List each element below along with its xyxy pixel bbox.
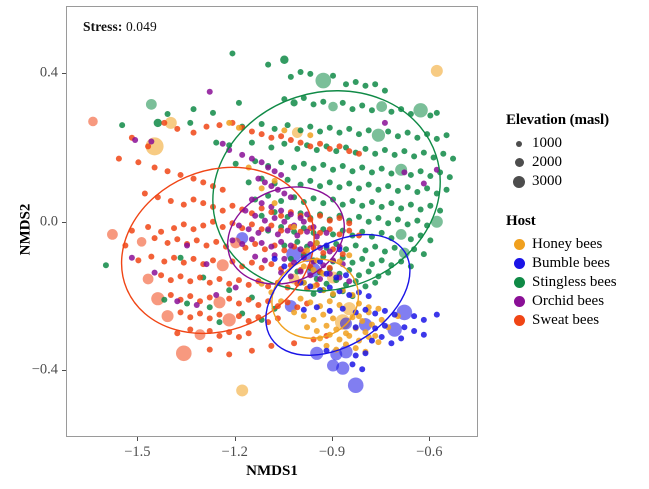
legend-area: Elevation (masl) 100020003000 Host Honey…: [506, 112, 649, 330]
y-tick-label: 0.4: [40, 64, 58, 81]
elevation-size-dot-icon: [506, 158, 532, 167]
x-tick-mark: [137, 437, 138, 441]
legend-elevation: Elevation (masl) 100020003000: [506, 112, 649, 191]
elevation-size-dot-icon: [506, 141, 532, 147]
stress-value: 0.049: [126, 19, 157, 34]
x-tick-mark: [332, 437, 333, 441]
legend-elevation-label: 1000: [532, 134, 562, 153]
y-tick-label: 0.0: [40, 213, 58, 230]
legend-host-rows: Honey beesBumble beesStingless beesOrchi…: [506, 235, 649, 330]
legend-host-label: Honey bees: [532, 235, 602, 254]
x-tick-label: −0.6: [416, 444, 442, 461]
y-tick-label: −0.4: [32, 362, 58, 379]
legend-host-item[interactable]: Honey bees: [506, 235, 649, 254]
host-color-dot-icon: [506, 277, 532, 288]
plot-panel: Stress: 0.049: [66, 6, 478, 437]
legend-host: Host Honey beesBumble beesStingless bees…: [506, 213, 649, 330]
legend-elevation-label: 2000: [532, 153, 562, 172]
stress-annotation: Stress: 0.049: [83, 19, 157, 35]
y-axis-title: NMDS2: [18, 170, 35, 290]
legend-elevation-label: 3000: [532, 172, 562, 191]
legend-elevation-rows: 100020003000: [506, 134, 649, 191]
legend-host-label: Orchid bees: [532, 292, 604, 311]
legend-host-item[interactable]: Stingless bees: [506, 273, 649, 292]
y-tick-mark: [62, 370, 66, 371]
legend-host-item[interactable]: Bumble bees: [506, 254, 649, 273]
x-tick-mark: [235, 437, 236, 441]
legend-host-item[interactable]: Orchid bees: [506, 292, 649, 311]
x-tick-mark: [429, 437, 430, 441]
y-tick-mark: [62, 222, 66, 223]
elevation-size-dot-icon: [506, 176, 532, 188]
host-color-dot-icon: [506, 239, 532, 250]
legend-host-title: Host: [506, 213, 649, 230]
host-color-dot-icon: [506, 258, 532, 269]
legend-elevation-item[interactable]: 2000: [506, 153, 649, 172]
legend-host-label: Stingless bees: [532, 273, 617, 292]
legend-elevation-item[interactable]: 3000: [506, 172, 649, 191]
legend-elevation-item[interactable]: 1000: [506, 134, 649, 153]
legend-elevation-title: Elevation (masl): [506, 112, 649, 129]
x-tick-label: −1.2: [222, 444, 248, 461]
x-axis-title: NMDS1: [66, 463, 478, 480]
stress-label: Stress:: [83, 19, 122, 34]
x-tick-label: −0.9: [319, 444, 345, 461]
data-points: [88, 50, 456, 396]
legend-host-item[interactable]: Sweat bees: [506, 311, 649, 330]
nmds-figure: Stress: 0.049 −1.5−1.2−0.9−0.60.40.0−0.4…: [0, 0, 649, 489]
y-tick-mark: [62, 73, 66, 74]
host-color-dot-icon: [506, 315, 532, 326]
legend-host-label: Sweat bees: [532, 311, 599, 330]
legend-host-label: Bumble bees: [532, 254, 610, 273]
x-tick-label: −1.5: [124, 444, 150, 461]
scatter-canvas: [67, 7, 479, 438]
host-color-dot-icon: [506, 296, 532, 307]
